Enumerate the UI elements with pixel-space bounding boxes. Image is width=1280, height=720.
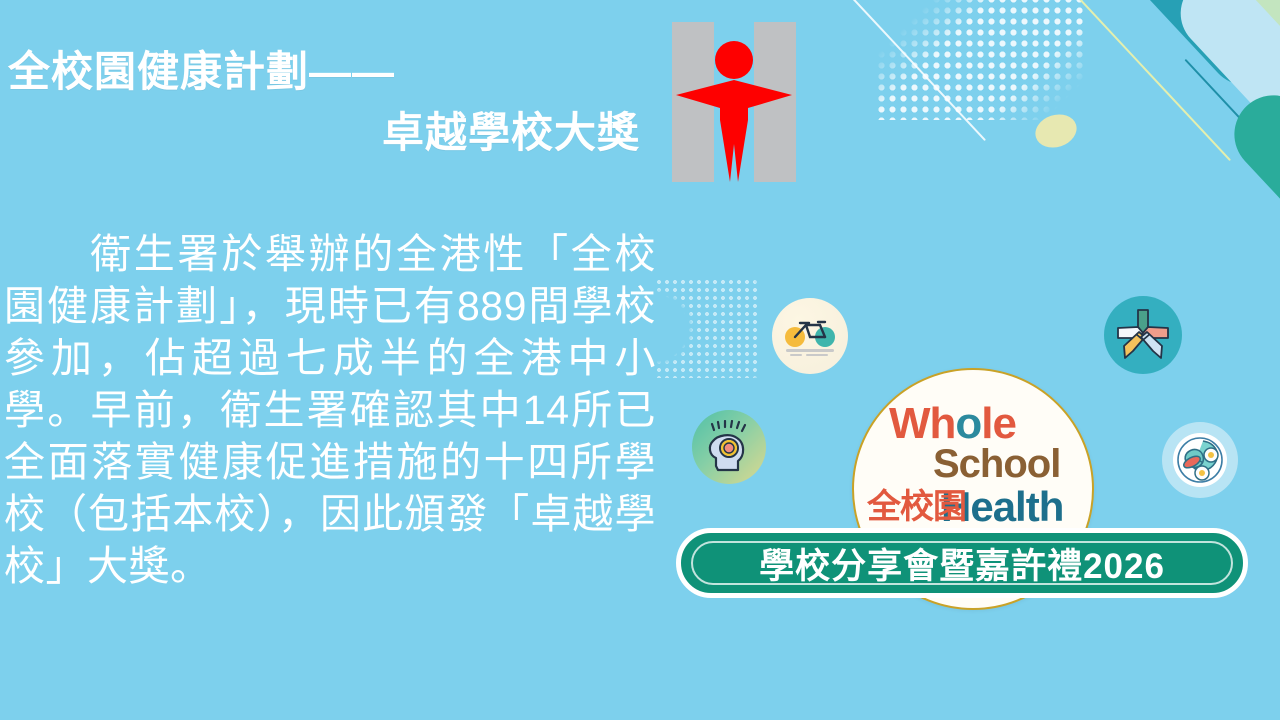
title-line-2: 卓越學校大獎: [8, 103, 648, 164]
slide-canvas: 全校園健康計劃—— 卓越學校大獎 衛生署於舉辦的全港性「全校園健康計劃」，現時已…: [0, 0, 1280, 720]
stripe-green-teal: [1218, 79, 1280, 278]
logo-word-school: School: [933, 444, 1060, 484]
bicycle-icon-circle: [772, 298, 848, 374]
accent-line-white: [814, 0, 986, 141]
accent-line-teal: [1184, 59, 1280, 199]
page-title: 全校園健康計劃—— 卓越學校大獎: [8, 42, 648, 164]
bicycle-icon: [782, 316, 838, 356]
dot-fan-pattern: [655, 278, 760, 378]
healthy-food-icon-circle: [1162, 422, 1238, 498]
accent-line-yellow: [1059, 0, 1231, 161]
logo-chinese-top: 全校園: [867, 490, 966, 524]
event-banner: 學校分享會暨嘉許禮2026: [676, 528, 1248, 598]
stripe-pale-blue: [1165, 0, 1280, 253]
logo-whole-o: o: [955, 399, 981, 448]
body-paragraph: 衛生署於舉辦的全港性「全校園健康計劃」，現時已有889間學校參加，佔超過七成半的…: [4, 228, 656, 592]
mind-head-icon-circle: [692, 410, 766, 484]
red-human-figure-icon: [672, 22, 796, 182]
ellipse-yellow: [1031, 109, 1081, 152]
title-line-1: 全校園健康計劃——: [8, 42, 648, 103]
stripe-teal-dark: [1025, 0, 1280, 100]
body-text-block: 衛生署於舉辦的全港性「全校園健康計劃」，現時已有889間學校參加，佔超過七成半的…: [4, 228, 656, 592]
stripe-pale-green: [1150, 0, 1280, 159]
department-of-health-logo: [672, 22, 796, 182]
logo-whole-le: le: [981, 399, 1016, 448]
healthy-food-icon: [1169, 429, 1231, 491]
dot-grid-pattern: [876, 0, 1086, 120]
banner-title: 學校分享會暨嘉許禮2026: [759, 538, 1165, 589]
teamwork-hands-icon-circle: [1104, 296, 1182, 374]
logo-whole-wh: Wh: [889, 399, 955, 448]
teamwork-hands-icon: [1112, 304, 1174, 366]
mind-head-icon: [700, 420, 758, 474]
logo-word-whole: Whole: [889, 402, 1016, 446]
